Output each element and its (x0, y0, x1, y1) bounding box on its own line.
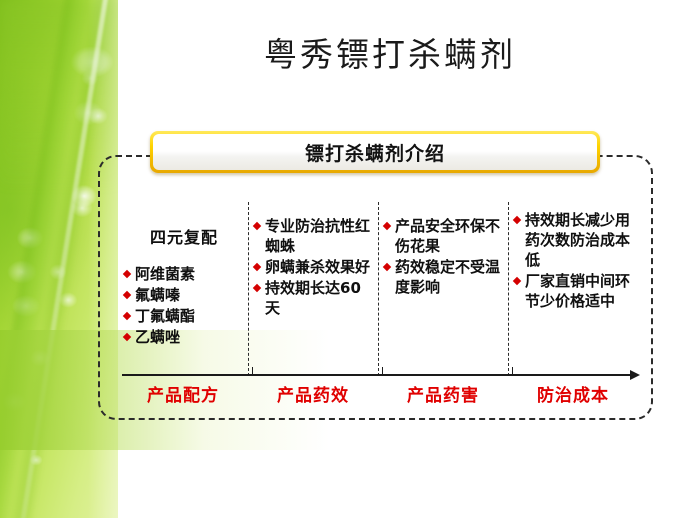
section-banner-inner: 镖打杀螨剂介绍 (153, 134, 597, 170)
diamond-bullet-icon (123, 312, 131, 320)
list-item-label: 卵螨兼杀效果好 (265, 258, 370, 276)
section-banner-title: 镖打杀螨剂介绍 (305, 139, 445, 166)
axis-tick (512, 367, 513, 374)
list-item-label: 厂家直销中间环节少价格适中 (525, 272, 630, 310)
diamond-bullet-icon (123, 291, 131, 299)
axis-label-row: 产品配方 产品药效 产品药害 防治成本 (118, 381, 638, 406)
list-item-label: 氟螨嗪 (135, 286, 180, 304)
diamond-bullet-icon (383, 222, 391, 230)
feature-column-cost: 持效期长减少用药次数防治成本低 厂家直销中间环节少价格适中 (508, 196, 638, 374)
feature-column-formula: 四元复配 阿维菌素 氟螨嗪 丁氟螨酯 乙螨唑 (118, 196, 248, 374)
list-item: 乙螨唑 (124, 327, 244, 347)
list-item-label: 丁氟螨酯 (135, 307, 195, 325)
diamond-bullet-icon (513, 216, 521, 224)
list-item: 厂家直销中间环节少价格适中 (514, 271, 634, 311)
column-heading-formula: 四元复配 (124, 224, 244, 248)
axis-tick (382, 367, 383, 374)
list-item-label: 持效期长达60天 (265, 279, 361, 317)
axis-label-efficacy: 产品药效 (248, 381, 378, 406)
diamond-bullet-icon (123, 333, 131, 341)
list-item: 阿维菌素 (124, 264, 244, 284)
list-item: 卵螨兼杀效果好 (254, 257, 374, 277)
bullet-list-cost: 持效期长减少用药次数防治成本低 厂家直销中间环节少价格适中 (514, 210, 634, 311)
bullet-list-safety: 产品安全环保不伤花果 药效稳定不受温度影响 (384, 216, 504, 297)
axis-label-cost: 防治成本 (508, 381, 638, 406)
page-title: 粤秀镖打杀螨剂 (180, 28, 600, 76)
list-item: 产品安全环保不伤花果 (384, 216, 504, 256)
axis-tick (252, 367, 253, 374)
list-item-label: 阿维菌素 (135, 265, 195, 283)
diamond-bullet-icon (513, 277, 521, 285)
list-item-label: 药效稳定不受温度影响 (395, 258, 500, 296)
list-item: 专业防治抗性红蜘蛛 (254, 216, 374, 256)
diamond-bullet-icon (253, 284, 261, 292)
diamond-bullet-icon (253, 222, 261, 230)
list-item: 氟螨嗪 (124, 285, 244, 305)
feature-column-efficacy: 专业防治抗性红蜘蛛 卵螨兼杀效果好 持效期长达60天 (248, 196, 378, 374)
list-item-label: 乙螨唑 (135, 328, 180, 346)
axis-label-formula: 产品配方 (118, 381, 248, 406)
bullet-list-efficacy: 专业防治抗性红蜘蛛 卵螨兼杀效果好 持效期长达60天 (254, 216, 374, 318)
bullet-list-formula: 阿维菌素 氟螨嗪 丁氟螨酯 乙螨唑 (124, 264, 244, 347)
axis-label-phytotoxicity: 产品药害 (378, 381, 508, 406)
section-banner: 镖打杀螨剂介绍 (150, 131, 600, 173)
list-item: 持效期长减少用药次数防治成本低 (514, 210, 634, 270)
list-item: 药效稳定不受温度影响 (384, 257, 504, 297)
list-item-label: 持效期长减少用药次数防治成本低 (525, 211, 630, 269)
diamond-bullet-icon (253, 263, 261, 271)
feature-column-safety: 产品安全环保不伤花果 药效稳定不受温度影响 (378, 196, 508, 374)
diamond-bullet-icon (383, 263, 391, 271)
slide-canvas: 粤秀镖打杀螨剂 镖打杀螨剂介绍 四元复配 阿维菌素 氟螨嗪 丁氟螨酯 乙螨唑 专… (0, 0, 695, 518)
diamond-bullet-icon (123, 270, 131, 278)
feature-columns: 四元复配 阿维菌素 氟螨嗪 丁氟螨酯 乙螨唑 专业防治抗性红蜘蛛 卵螨兼杀效果好… (118, 196, 638, 374)
list-item: 持效期长达60天 (254, 278, 374, 318)
list-item-label: 专业防治抗性红蜘蛛 (265, 217, 370, 255)
list-item-label: 产品安全环保不伤花果 (395, 217, 500, 255)
timeline-axis-arrow (122, 374, 630, 376)
list-item: 丁氟螨酯 (124, 306, 244, 326)
